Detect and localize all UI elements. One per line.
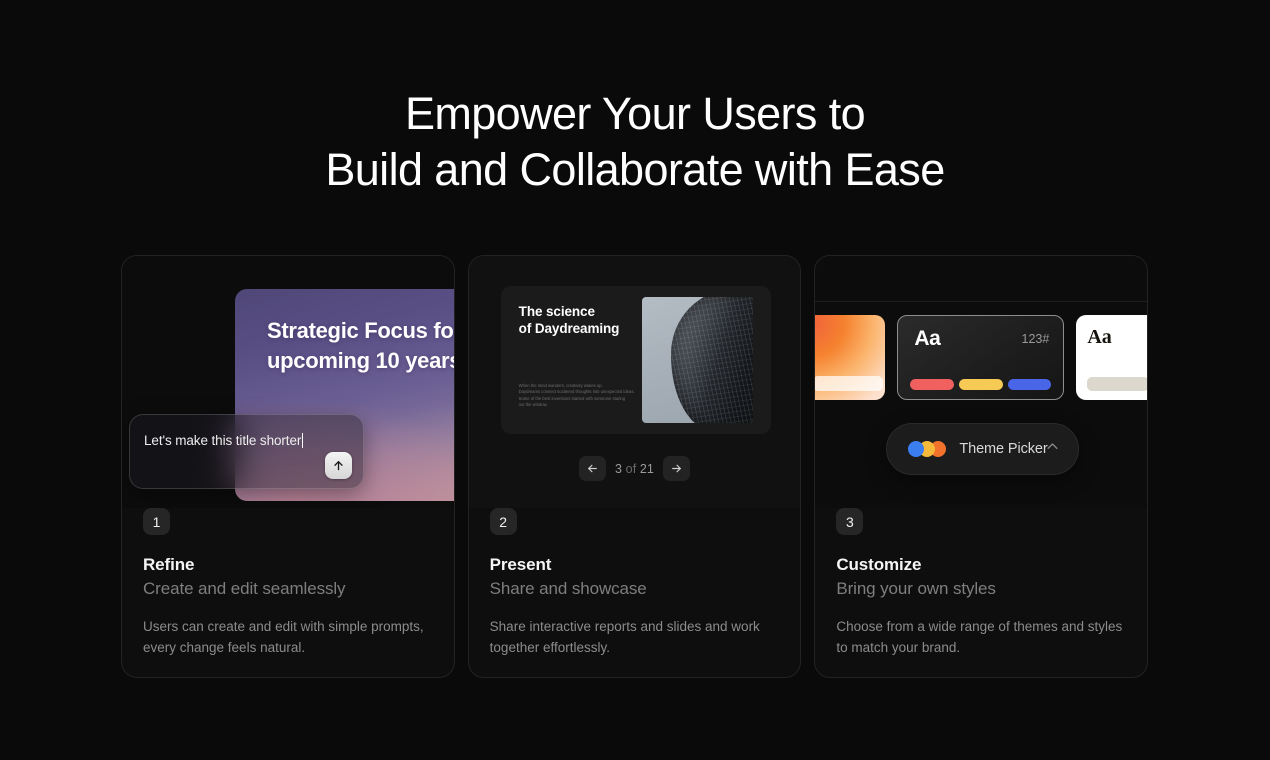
theme-numerals-sample: 123# (1022, 332, 1050, 346)
slide-body-text: When the mind wanders, creativity wakes … (519, 383, 639, 408)
color-dots-icon (908, 441, 946, 457)
slide-preview-daydreaming[interactable]: The science of Daydreaming When the mind… (501, 286, 771, 434)
theme-swatch-bar (815, 376, 883, 391)
slide-pager: 3 of 21 (469, 456, 801, 481)
slide-photo (642, 297, 753, 423)
theme-card-orange-gradient[interactable] (815, 315, 885, 400)
arrow-left-icon (586, 462, 599, 475)
send-button[interactable] (325, 452, 352, 479)
feature-card-customize[interactable]: Aa 123# Aa (814, 255, 1148, 678)
theme-swatch-bar (1087, 377, 1147, 391)
pager-total: 21 (640, 462, 654, 476)
theme-typeface-sample: Aa (1087, 326, 1111, 349)
present-visual: The science of Daydreaming When the mind… (469, 256, 801, 508)
feature-card-present[interactable]: The science of Daydreaming When the mind… (468, 255, 802, 678)
theme-card-dark-selected[interactable]: Aa 123# (897, 315, 1064, 400)
page-title-line-2: Build and Collaborate with Ease (0, 142, 1270, 198)
text-caret (302, 433, 303, 448)
step-badge: 1 (143, 508, 170, 535)
step-badge: 3 (836, 508, 863, 535)
slide-title: The science of Daydreaming (519, 303, 620, 337)
step-badge: 2 (490, 508, 517, 535)
card-description: Users can create and edit with simple pr… (143, 616, 433, 658)
feature-card-refine[interactable]: Strategic Focus for upcoming 10 years Le… (121, 255, 455, 678)
page-title-line-1: Empower Your Users to (0, 86, 1270, 142)
slide-title: Strategic Focus for upcoming 10 years (267, 316, 454, 376)
pager-current: 3 (615, 462, 622, 476)
ai-prompt-box[interactable]: Let's make this title shorter (129, 414, 364, 489)
card-title: Present (490, 554, 780, 576)
pager-separator: of (626, 462, 637, 476)
card-description: Choose from a wide range of themes and s… (836, 616, 1126, 658)
refine-footer: 1 Refine Create and edit seamlessly User… (122, 508, 454, 677)
landing-page: Empower Your Users to Build and Collabor… (0, 0, 1270, 760)
card-title: Customize (836, 554, 1126, 576)
theme-swatches (910, 379, 1051, 390)
card-subtitle: Share and showcase (490, 577, 780, 601)
theme-carousel[interactable]: Aa 123# Aa (815, 313, 1147, 401)
theme-card-light-serif[interactable]: Aa (1076, 315, 1147, 400)
present-footer: 2 Present Share and showcase Share inter… (469, 508, 801, 677)
arrow-right-icon (670, 462, 683, 475)
theme-picker-label: Theme Picker (959, 441, 1047, 457)
card-description: Share interactive reports and slides and… (490, 616, 780, 658)
refine-visual: Strategic Focus for upcoming 10 years Le… (122, 256, 454, 508)
skyscraper-shape (671, 297, 753, 423)
card-title: Refine (143, 554, 433, 576)
prompt-input[interactable]: Let's make this title shorter (144, 432, 303, 450)
page-title: Empower Your Users to Build and Collabor… (0, 86, 1270, 198)
theme-typeface-sample: Aa (914, 327, 940, 351)
swatch-red (910, 379, 954, 390)
pager-next-button[interactable] (663, 456, 690, 481)
swatch-blue (1008, 379, 1052, 390)
pager-prev-button[interactable] (579, 456, 606, 481)
customize-footer: 3 Customize Bring your own styles Choose… (815, 508, 1147, 677)
theme-picker-button[interactable]: Theme Picker (886, 423, 1079, 475)
swatch-yellow (959, 379, 1003, 390)
card-subtitle: Create and edit seamlessly (143, 577, 433, 601)
chevron-up-icon (1045, 439, 1060, 459)
pager-label: 3 of 21 (615, 462, 654, 476)
arrow-up-icon (332, 459, 345, 472)
card-subtitle: Bring your own styles (836, 577, 1126, 601)
feature-cards-row: Strategic Focus for upcoming 10 years Le… (121, 255, 1148, 678)
customize-visual: Aa 123# Aa (815, 256, 1147, 508)
divider (815, 301, 1147, 302)
prompt-input-value: Let's make this title shorter (144, 433, 301, 448)
